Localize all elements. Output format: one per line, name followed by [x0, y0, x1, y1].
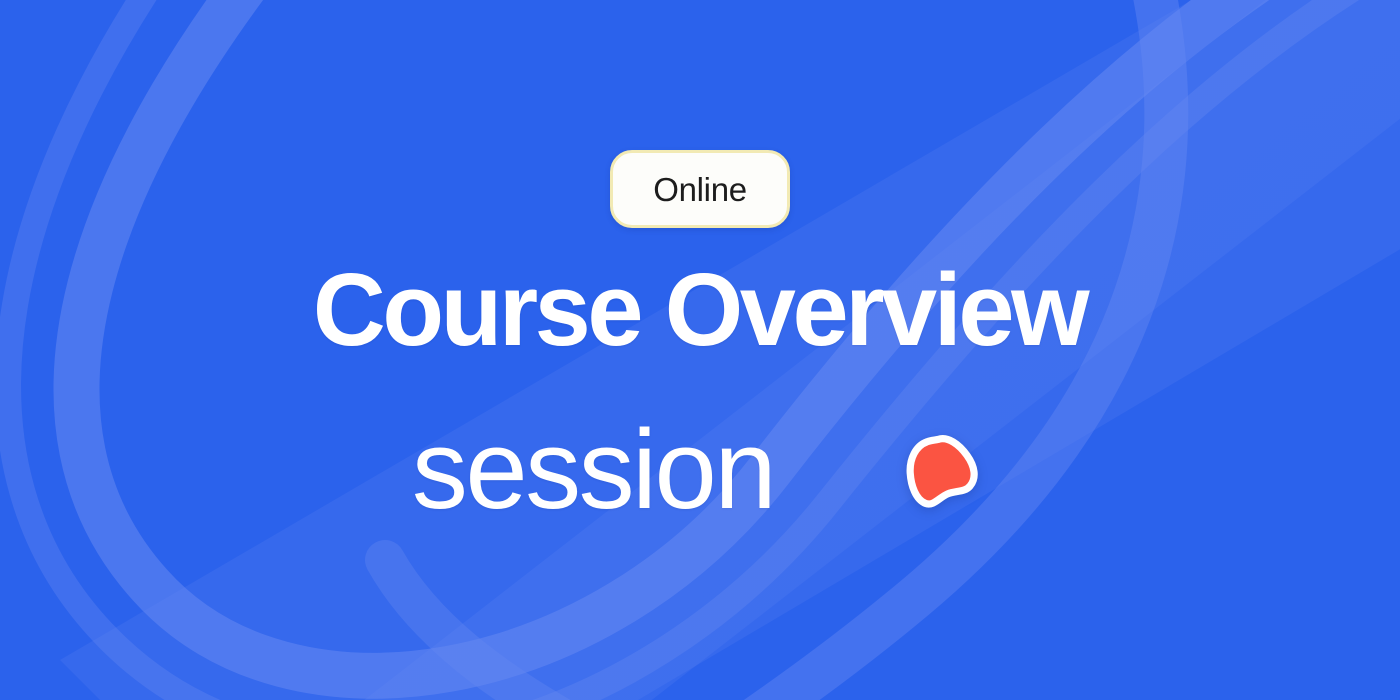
play-blob-icon — [902, 433, 984, 513]
page-subtitle: session — [412, 414, 774, 526]
page-title: Course Overview — [313, 258, 1086, 361]
status-badge[interactable]: Online — [610, 150, 790, 228]
subline-row: session — [412, 414, 984, 526]
subline-container: session — [0, 414, 1400, 526]
status-badge-label: Online — [653, 173, 747, 206]
headline-container: Course Overview — [0, 258, 1400, 361]
course-overview-banner: Online Course Overview session — [0, 0, 1400, 700]
